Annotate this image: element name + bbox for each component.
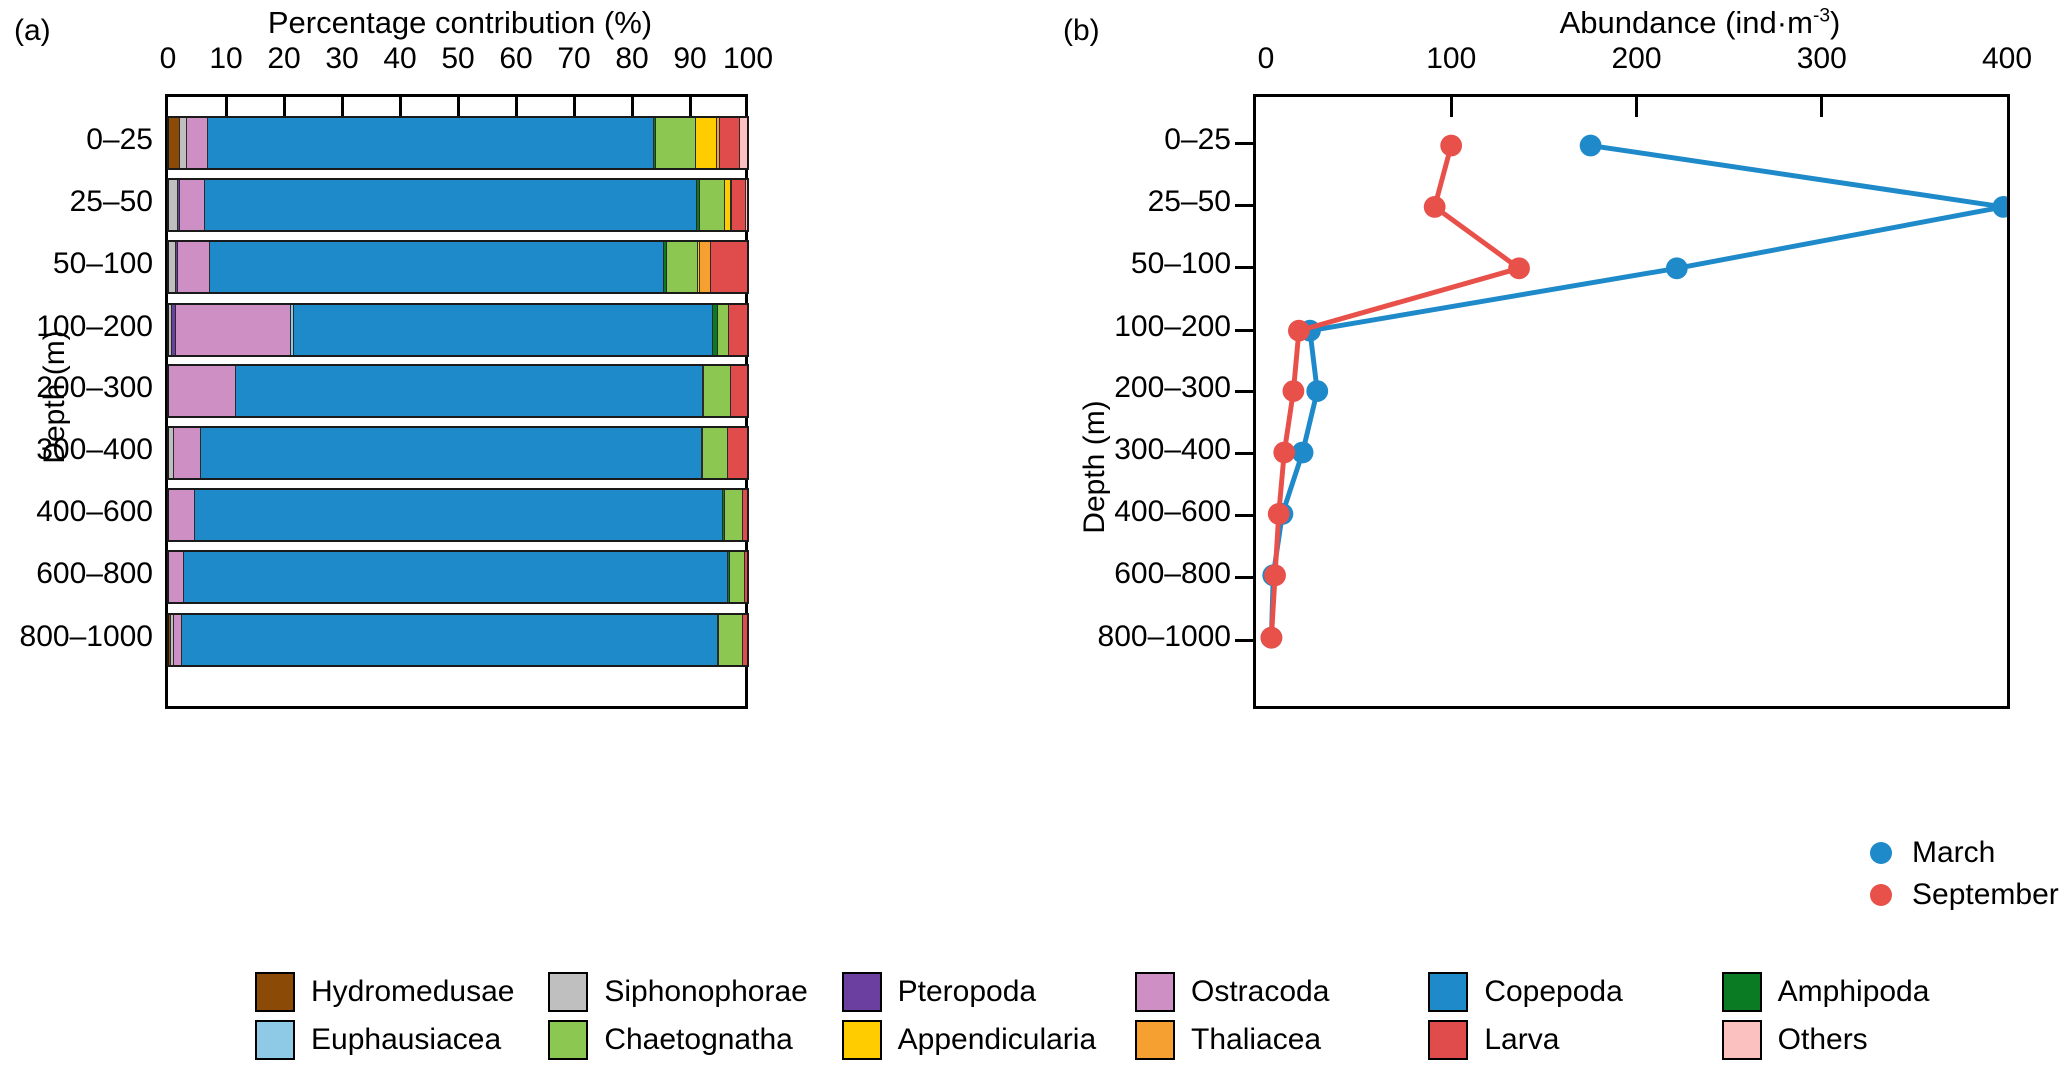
panel-b-letter: (b) — [1063, 14, 1100, 48]
stacked-bar-row — [168, 614, 748, 666]
data-point — [1424, 196, 1446, 218]
stacked-bar-row — [168, 179, 748, 231]
stacked-bar-segment — [719, 614, 743, 666]
panel-a-y-tick-label: 400–600 — [0, 495, 153, 529]
legend-item: Others — [1722, 1020, 2015, 1060]
data-point — [1580, 135, 1602, 157]
stacked-bar-segment — [168, 117, 180, 169]
line-path — [1271, 146, 2003, 638]
stacked-bar-segment — [703, 427, 728, 479]
panel-b-x-axis-title-base: Abundance (ind·m — [1560, 5, 1813, 40]
panel-a-x-tick — [689, 97, 692, 117]
panel-b-y-tick — [1235, 452, 1255, 455]
stacked-bar-segment — [718, 304, 728, 356]
stacked-bar-segment — [187, 117, 208, 169]
panel-a-y-tick-label: 800–1000 — [0, 620, 153, 654]
panel-b-y-tick-label: 25–50 — [963, 185, 1231, 219]
legend-label: Amphipoda — [1778, 975, 1930, 1009]
panel-a-x-tick-label: 100 — [703, 42, 793, 76]
panel-a-y-tick-label: 300–400 — [0, 433, 153, 467]
panel-b-x-tick-label: 400 — [1952, 42, 2062, 76]
stacked-bar-segment — [180, 179, 205, 231]
legend-item: Copepoda — [1428, 972, 1721, 1012]
panel-a-x-tick — [631, 97, 634, 117]
legend-color-swatch — [548, 972, 588, 1012]
stacked-bar-segment — [656, 117, 696, 169]
panel-b-y-tick — [1235, 266, 1255, 269]
panel-b-y-tick-label: 0–25 — [963, 123, 1231, 157]
legend-color-swatch — [842, 972, 882, 1012]
legend-label: Ostracoda — [1191, 975, 1329, 1009]
legend-item: Siphonophorae — [548, 972, 841, 1012]
panel-a-x-axis-title: Percentage contribution (%) — [170, 5, 750, 41]
panel-b-x-axis-title-tail: ) — [1830, 5, 1840, 40]
legend-item: Euphausiacea — [255, 1020, 548, 1060]
panel-b-y-tick — [1235, 576, 1255, 579]
data-point — [1264, 564, 1286, 586]
data-point — [1261, 627, 1283, 649]
panel-b-legend-label: September — [1912, 878, 2059, 912]
stacked-bar-segment — [743, 614, 748, 666]
legend-label: Thaliacea — [1191, 1023, 1321, 1057]
panel-b-x-axis-title: Abundance (ind·m-3) — [1390, 5, 2010, 41]
legend-color-swatch — [1428, 1020, 1468, 1060]
panel-b-x-tick — [1635, 97, 1638, 117]
stacked-bar-segment — [178, 241, 210, 293]
panel-a-x-tick — [573, 97, 576, 117]
figure-root: (a) Percentage contribution (%) Depth (m… — [0, 0, 2067, 1091]
panel-a-y-tick-label: 100–200 — [0, 310, 153, 344]
panel-a-y-tick-label: 25–50 — [0, 185, 153, 219]
stacked-bar-segment — [201, 427, 702, 479]
legend-color-swatch — [1722, 1020, 1762, 1060]
legend-item: Larva — [1428, 1020, 1721, 1060]
stacked-bar-segment — [700, 241, 711, 293]
stacked-bar-segment — [168, 489, 195, 541]
stacked-bar-segment — [174, 427, 201, 479]
legend-item: Pteropoda — [842, 972, 1135, 1012]
stacked-bar-row — [168, 117, 748, 169]
stacked-bar-segment — [184, 551, 729, 603]
panel-a-y-tick-label: 0–25 — [0, 123, 153, 157]
data-point — [1992, 196, 2007, 218]
panel-a-letter: (a) — [14, 14, 51, 48]
data-point — [1508, 257, 1530, 279]
panel-a-x-tick — [515, 97, 518, 117]
panel-b-legend-label: March — [1912, 836, 1995, 870]
legend-color-swatch — [1722, 972, 1762, 1012]
panel-b-y-tick — [1235, 390, 1255, 393]
legend-color-swatch — [548, 1020, 588, 1060]
panel-a-y-tick-label: 600–800 — [0, 557, 153, 591]
legend-label: Chaetognatha — [604, 1023, 793, 1057]
stacked-bar-segment — [168, 551, 184, 603]
stacked-bar-segment — [174, 614, 182, 666]
panel-a-y-tick-label: 200–300 — [0, 371, 153, 405]
stacked-bar-segment — [176, 304, 291, 356]
data-point — [1306, 380, 1328, 402]
panel-b-legend-item: March — [1870, 832, 2059, 874]
panel-b-y-tick — [1235, 142, 1255, 145]
legend-color-swatch — [255, 1020, 295, 1060]
stacked-bar-segment — [730, 551, 745, 603]
data-point — [1283, 380, 1305, 402]
stacked-bar-segment — [729, 304, 748, 356]
legend-color-swatch — [255, 972, 295, 1012]
panel-a-y-tick-label: 50–100 — [0, 247, 153, 281]
stacked-bar-row — [168, 427, 748, 479]
panel-b-y-tick — [1235, 204, 1255, 207]
stacked-bar-segment — [732, 179, 745, 231]
panel-b-x-tick — [1450, 97, 1453, 117]
panel-b-x-axis-title-exponent: -3 — [1813, 6, 1830, 27]
legend-color-swatch — [1428, 972, 1468, 1012]
panel-b-x-tick-label: 100 — [1396, 42, 1506, 76]
legend-marker-dot-icon — [1870, 842, 1892, 864]
panel-b-legend: MarchSeptember — [1870, 832, 2059, 916]
legend-item: Ostracoda — [1135, 972, 1428, 1012]
panel-b-y-tick-label: 600–800 — [963, 557, 1231, 591]
legend-color-swatch — [842, 1020, 882, 1060]
stacked-bar-segment — [182, 614, 718, 666]
panel-a-x-tick — [341, 97, 344, 117]
panel-b-plot-area — [1253, 94, 2010, 709]
data-point — [1273, 442, 1295, 464]
panel-b-y-tick-label: 200–300 — [963, 371, 1231, 405]
legend-label: Euphausiacea — [311, 1023, 501, 1057]
legend-label: Pteropoda — [898, 975, 1036, 1009]
legend-item: Amphipoda — [1722, 972, 2015, 1012]
legend-label: Siphonophorae — [604, 975, 808, 1009]
stacked-bar-row — [168, 365, 748, 417]
legend-color-swatch — [1135, 1020, 1175, 1060]
stacked-bar-segment — [745, 551, 748, 603]
legend-label: Larva — [1484, 1023, 1559, 1057]
legend-label: Hydromedusae — [311, 975, 514, 1009]
stacked-bar-segment — [725, 489, 743, 541]
panel-b-y-tick — [1235, 514, 1255, 517]
stacked-bar-segment — [210, 241, 665, 293]
legend-item: Thaliacea — [1135, 1020, 1428, 1060]
panel-b-x-tick-label: 0 — [1211, 42, 1321, 76]
panel-b-y-tick — [1235, 639, 1255, 642]
panel-b-line-chart-svg — [1256, 97, 2007, 706]
panel-a-x-tick — [399, 97, 402, 117]
panel-b-y-tick-label: 800–1000 — [963, 620, 1231, 654]
stacked-bar-segment — [731, 365, 748, 417]
stacked-bar-segment — [704, 365, 731, 417]
legend-item: Hydromedusae — [255, 972, 548, 1012]
line-series-march — [1261, 135, 2007, 649]
stacked-bar-segment — [740, 117, 748, 169]
stacked-bar-segment — [168, 179, 178, 231]
legend-item: Chaetognatha — [548, 1020, 841, 1060]
stacked-bar-row — [168, 489, 748, 541]
legend-label: Appendicularia — [898, 1023, 1096, 1057]
stacked-bar-segment — [728, 427, 748, 479]
legend-color-swatch — [1135, 972, 1175, 1012]
panel-b-x-tick — [1820, 97, 1823, 117]
stacked-bar-segment — [168, 241, 176, 293]
stacked-bar-segment — [746, 179, 748, 231]
legend-label: Copepoda — [1484, 975, 1622, 1009]
stacked-bar-segment — [743, 489, 748, 541]
panel-b-y-tick — [1235, 329, 1255, 332]
stacked-bar-segment — [696, 117, 717, 169]
legend-label: Others — [1778, 1023, 1868, 1057]
panel-a-x-tick — [457, 97, 460, 117]
stacked-bar-segment — [208, 117, 654, 169]
stacked-bar-segment — [168, 365, 236, 417]
stacked-bar-segment — [195, 489, 723, 541]
legend-item: Appendicularia — [842, 1020, 1135, 1060]
panel-b-legend-item: September — [1870, 874, 2059, 916]
stacked-bar-row — [168, 241, 748, 293]
stacked-bar-segment — [294, 304, 713, 356]
stacked-bar-segment — [700, 179, 725, 231]
stacked-bar-segment — [720, 117, 741, 169]
panel-b-x-tick-label: 300 — [1767, 42, 1877, 76]
panel-a-x-tick — [283, 97, 286, 117]
data-point — [1440, 135, 1462, 157]
stacked-bar-segment — [711, 241, 748, 293]
stacked-bar-segment — [205, 179, 697, 231]
data-point — [1268, 503, 1290, 525]
panel-b-y-tick-label: 50–100 — [963, 247, 1231, 281]
stacked-bar-row — [168, 304, 748, 356]
panel-b-y-tick-label: 300–400 — [963, 433, 1231, 467]
stacked-bar-row — [168, 551, 748, 603]
data-point — [1288, 320, 1310, 342]
panel-a-x-tick — [225, 97, 228, 117]
legend-marker-dot-icon — [1870, 884, 1892, 906]
panel-b-y-tick-label: 400–600 — [963, 495, 1231, 529]
stacked-bar-segment — [667, 241, 698, 293]
species-legend: HydromedusaeSiphonophoraePteropodaOstrac… — [255, 968, 2015, 1078]
panel-b-x-tick-label: 200 — [1582, 42, 1692, 76]
panel-b-y-tick-label: 100–200 — [963, 310, 1231, 344]
stacked-bar-segment — [236, 365, 702, 417]
data-point — [1666, 257, 1688, 279]
line-series-september — [1261, 135, 1530, 649]
